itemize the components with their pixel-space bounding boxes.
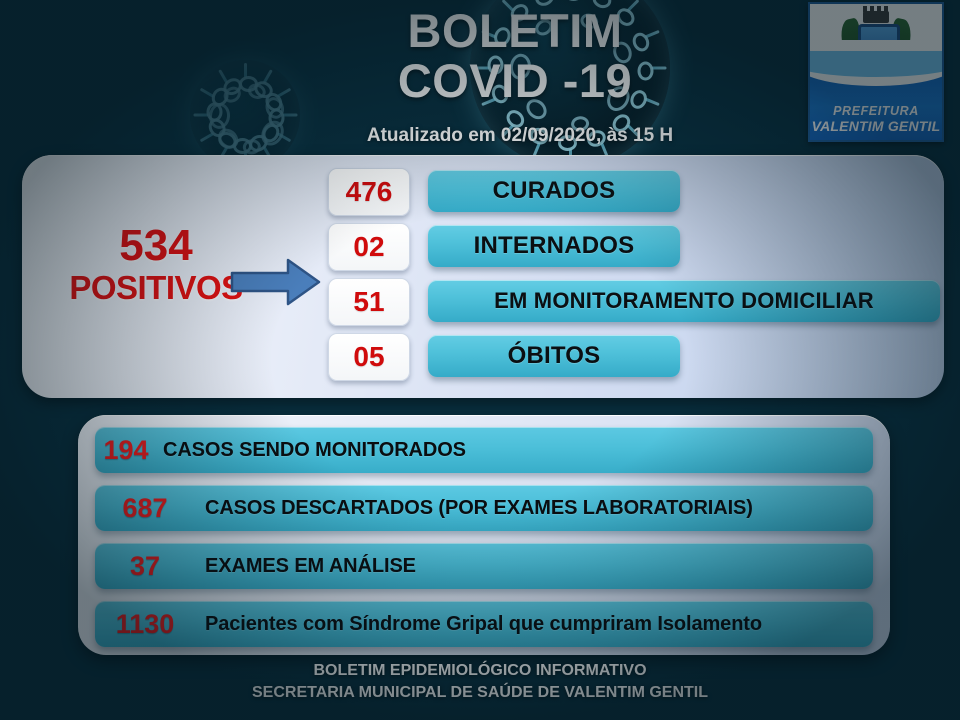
breakdown-label-em-monitoramento-domiciliar: EM MONITORAMENTO DOMICILIAR <box>428 280 940 322</box>
virus-surface-protein-icon <box>246 81 268 101</box>
breakdown-label-curados: CURADOS <box>428 170 680 212</box>
virus-spike-icon <box>530 0 545 1</box>
virus-spike-icon <box>269 86 292 103</box>
breakdown-value-curados: 476 <box>328 168 410 216</box>
summary-panel: 534 POSITIVOS 476CURADOS02INTERNADOS51EM… <box>22 155 944 398</box>
city-hall-logo: PREFEITURA VALENTIM GENTIL <box>808 2 944 142</box>
detail-row: 687CASOS DESCARTADOS (POR EXAMES LABORAT… <box>95 485 873 531</box>
footer-line-2: SECRETARIA MUNICIPAL DE SAÚDE DE VALENTI… <box>0 682 960 704</box>
title-line-1: BOLETIM <box>300 6 730 56</box>
breakdown-value-em-monitoramento-domiciliar: 51 <box>328 278 410 326</box>
breakdown-value-bitos: 05 <box>328 333 410 381</box>
detail-row: 1130Pacientes com Síndrome Gripal que cu… <box>95 601 873 647</box>
detail-value: 687 <box>95 493 195 524</box>
logo-line-2: VALENTIM GENTIL <box>810 119 942 134</box>
crown-icon <box>863 11 889 23</box>
infographic-canvas: BOLETIM COVID -19 Atualizado em 02/09/20… <box>0 0 960 720</box>
virus-spike-icon <box>216 68 233 91</box>
virus-spike-icon <box>198 127 221 144</box>
detail-value: 1130 <box>95 609 195 640</box>
breakdown-label-bitos: ÓBITOS <box>428 335 680 377</box>
virus-spike-icon <box>257 68 274 91</box>
breakdown-list: 476CURADOS02INTERNADOS51EM MONITORAMENTO… <box>22 155 944 398</box>
detail-label: CASOS DESCARTADOS (POR EXAMES LABORATORI… <box>205 497 753 520</box>
coronavirus-illustration-secondary <box>190 60 300 170</box>
detail-row: 194CASOS SENDO MONITORADOS <box>95 427 873 473</box>
detail-label: EXAMES EM ANÁLISE <box>205 555 416 578</box>
details-panel: 194CASOS SENDO MONITORADOS687CASOS DESCA… <box>78 415 890 655</box>
virus-body-secondary <box>190 60 300 170</box>
virus-surface-protein-icon <box>208 102 231 130</box>
virus-spike-icon <box>198 86 221 103</box>
virus-spike-icon <box>275 112 297 119</box>
detail-label: CASOS SENDO MONITORADOS <box>163 439 466 462</box>
page-title: BOLETIM COVID -19 <box>300 6 730 106</box>
virus-spike-icon <box>193 112 215 119</box>
detail-value: 37 <box>95 551 195 582</box>
update-timestamp: Atualizado em 02/09/2020, às 15 H <box>250 125 790 147</box>
footer: BOLETIM EPIDEMIOLÓGICO INFORMATIVO SECRE… <box>0 660 960 704</box>
detail-label: Pacientes com Síndrome Gripal que cumpri… <box>205 613 762 636</box>
logo-text: PREFEITURA VALENTIM GENTIL <box>810 104 942 134</box>
logo-line-1: PREFEITURA <box>810 104 942 119</box>
breakdown-label-internados: INTERNADOS <box>428 225 680 267</box>
header: BOLETIM COVID -19 Atualizado em 02/09/20… <box>0 0 960 150</box>
virus-surface-protein-icon <box>214 125 242 153</box>
virus-spike-icon <box>595 0 610 1</box>
breakdown-value-internados: 02 <box>328 223 410 271</box>
virus-spike-icon <box>242 63 249 85</box>
virus-surface-protein-icon <box>221 83 244 105</box>
detail-row: 37EXAMES EM ANÁLISE <box>95 543 873 589</box>
title-line-2: COVID -19 <box>300 56 730 106</box>
detail-value: 194 <box>95 435 157 466</box>
footer-line-1: BOLETIM EPIDEMIOLÓGICO INFORMATIVO <box>0 660 960 682</box>
virus-surface-protein-icon <box>262 94 287 121</box>
